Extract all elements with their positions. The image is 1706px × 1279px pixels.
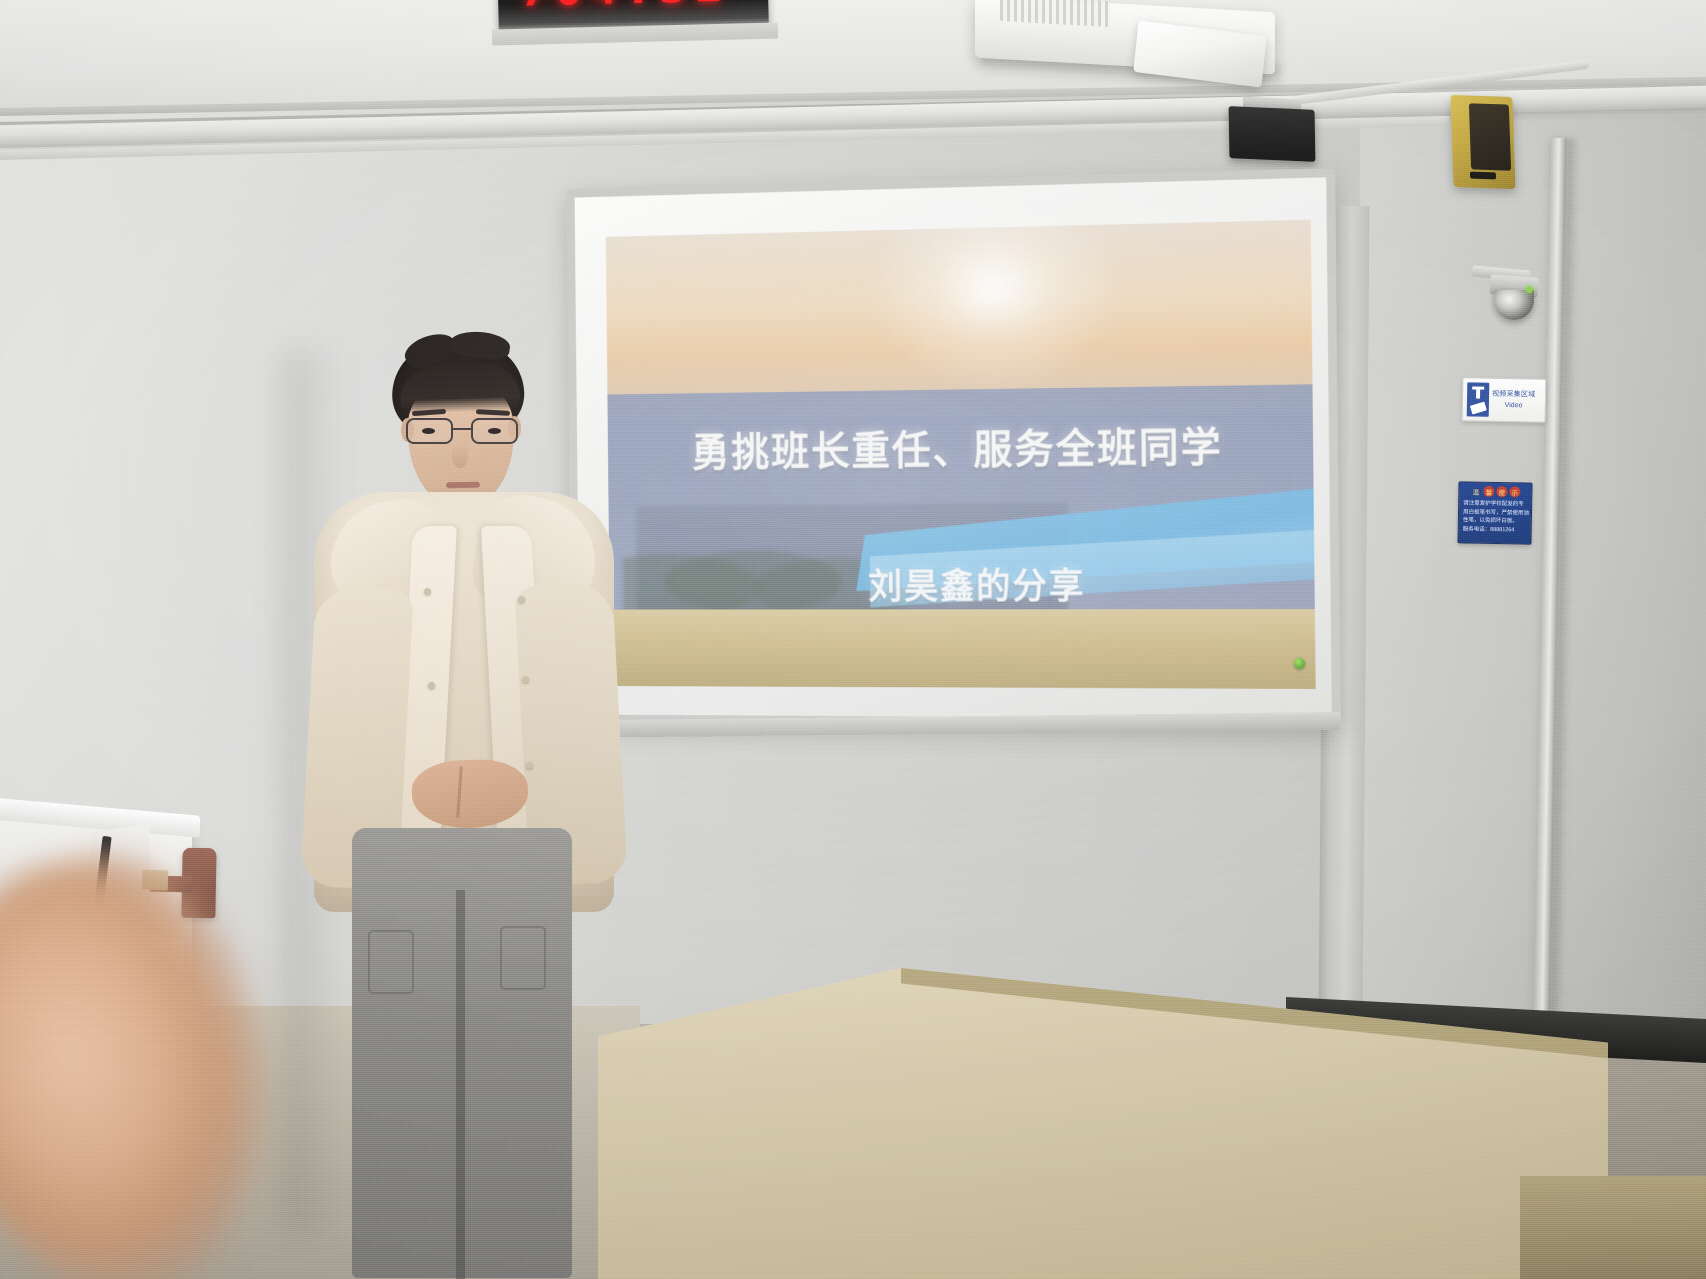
notice-char-4: 示 [1509, 486, 1520, 497]
yellow-fixture-face [1469, 103, 1511, 171]
notice-char-2: 馨 [1483, 486, 1494, 497]
projected-slide: 勇挑班长重任、服务全班同学 刘昊鑫的分享 [606, 220, 1316, 689]
jacket-snap-button [518, 596, 525, 603]
jacket-snap-button [424, 588, 431, 595]
green-magnet-icon [1294, 658, 1305, 669]
camera-status-led [1526, 286, 1533, 293]
hair-fringe [399, 364, 521, 414]
slide-title: 勇挑班长重任、服务全班同学 [608, 412, 1314, 478]
jacket-snap-button [428, 682, 435, 689]
video-sign-en-text: Video [1492, 402, 1535, 410]
notice-char-3: 提 [1496, 486, 1507, 497]
wall-speaker [1229, 106, 1316, 162]
jacket-snap-button [522, 676, 529, 683]
whiteboard[interactable]: 勇挑班长重任、服务全班同学 刘昊鑫的分享 [566, 168, 1341, 728]
notice-line: 服务电话：88881264 [1463, 525, 1527, 535]
whiteboard-surface[interactable]: 勇挑班长重任、服务全班同学 刘昊鑫的分享 [575, 177, 1332, 719]
led-clock-digits: 704.31 [519, 0, 728, 17]
video-surveillance-sign: 视频采集区域 Video [1462, 377, 1547, 422]
stage-platform-front [1520, 1176, 1706, 1279]
projector-glare [866, 220, 1123, 395]
eyeglasses [404, 418, 520, 446]
eye-right [488, 428, 501, 434]
cargo-pocket-right [500, 926, 546, 990]
camera-glyph-icon [1470, 402, 1487, 415]
glasses-bridge [453, 428, 471, 430]
blue-notice-sign: 温 馨 提 示 请注意爱护学校配发的专 用白板笔书写，严禁使用油 性笔，以免损坏… [1457, 481, 1532, 544]
slide-subtitle: 刘昊鑫的分享 [609, 557, 1315, 609]
cargo-pocket-left [368, 930, 414, 994]
camera-icon [1467, 382, 1490, 416]
classroom-photo: 704.31 视频采集区域 Video 温 馨 提 示 请注意爱护学校 [0, 0, 1706, 1279]
notice-heading: 温 馨 提 示 [1463, 485, 1527, 497]
presenting-student [300, 330, 630, 1279]
yellow-fixture-slot [1470, 172, 1496, 180]
notice-char-1: 温 [1470, 486, 1481, 497]
jacket-snap-button [526, 762, 533, 769]
right-wall [1360, 120, 1706, 1060]
video-sign-cn-text: 视频采集区域 [1492, 391, 1535, 399]
mouth [446, 482, 480, 489]
slide-ground [610, 609, 1316, 689]
eye-left [422, 428, 435, 434]
trouser-centre-seam [456, 890, 465, 1279]
